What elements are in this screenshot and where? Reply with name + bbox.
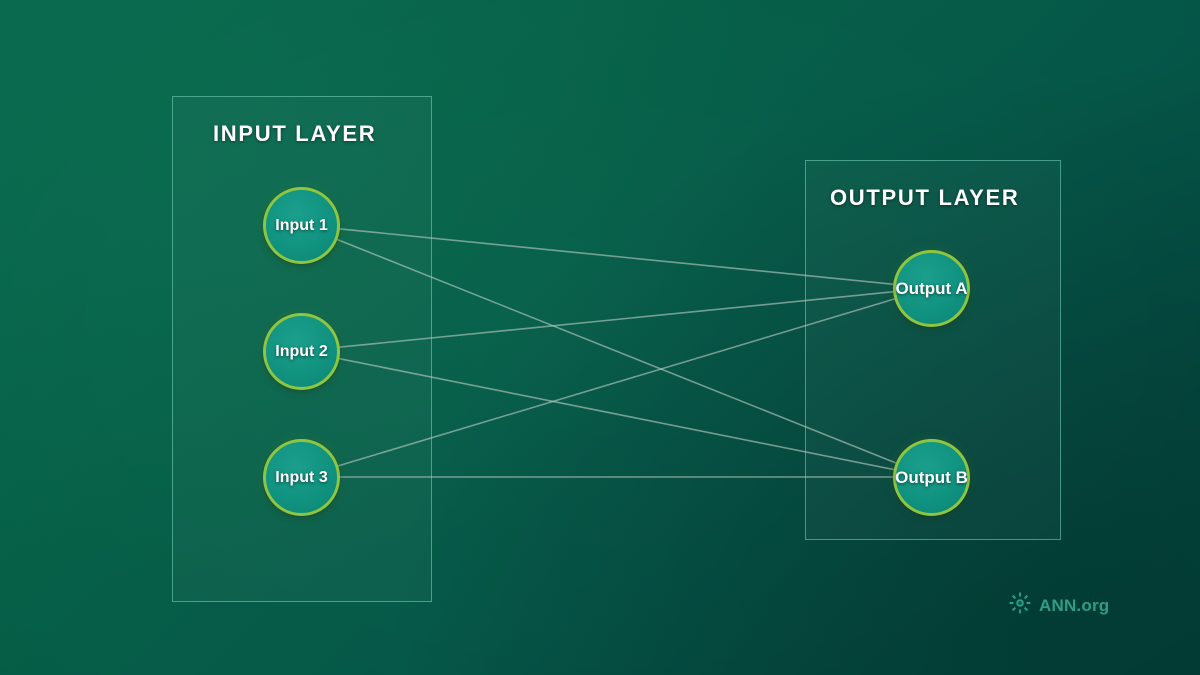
node-input-3-label: Input 3 xyxy=(275,469,327,487)
input-layer-title: INPUT LAYER xyxy=(213,121,376,147)
gear-icon xyxy=(1009,592,1031,619)
diagram-canvas: INPUT LAYER OUTPUT LAYER Input 1 Input 2… xyxy=(0,0,1200,675)
node-input-2[interactable]: Input 2 xyxy=(263,313,340,390)
node-input-2-label: Input 2 xyxy=(275,343,327,361)
node-input-3[interactable]: Input 3 xyxy=(263,439,340,516)
watermark-text: ANN.org xyxy=(1039,596,1109,616)
node-input-1[interactable]: Input 1 xyxy=(263,187,340,264)
watermark: ANN.org xyxy=(1009,592,1109,619)
node-input-1-label: Input 1 xyxy=(275,217,327,235)
node-output-a-label: Output A xyxy=(895,279,967,299)
node-output-b-label: Output B xyxy=(895,468,968,488)
node-output-b[interactable]: Output B xyxy=(893,439,970,516)
node-output-a[interactable]: Output A xyxy=(893,250,970,327)
output-layer-title: OUTPUT LAYER xyxy=(830,185,1020,211)
